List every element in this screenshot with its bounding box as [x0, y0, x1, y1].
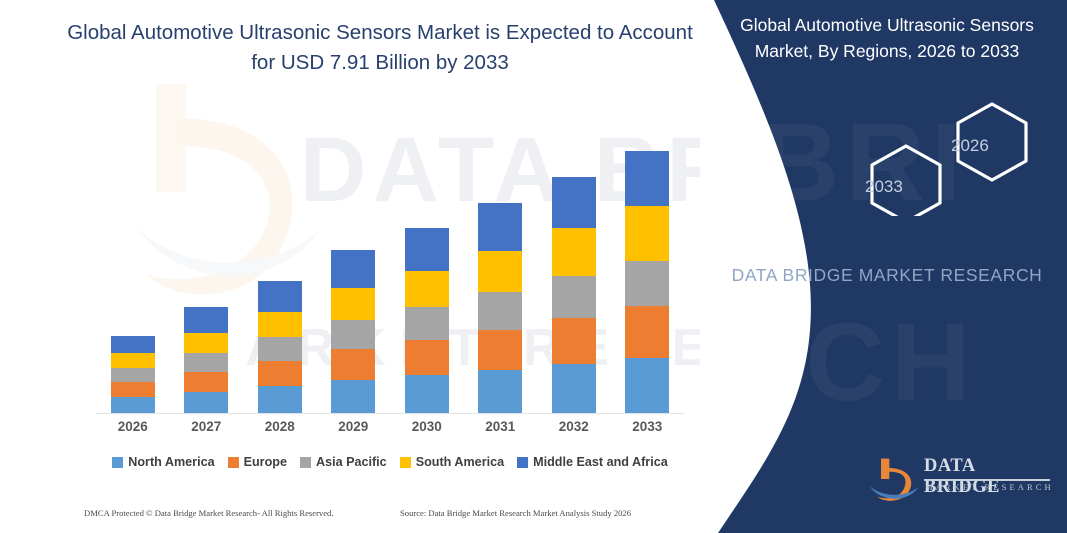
bar-segment	[405, 271, 449, 307]
bar-segment	[184, 353, 228, 372]
dbmr-logo-subtitle: MARKET RESEARCH	[925, 482, 1054, 492]
x-axis-tick-2033: 2033	[607, 419, 687, 434]
x-axis-tick-2026: 2026	[93, 419, 173, 434]
bar-segment	[552, 364, 596, 413]
legend-item-north-america[interactable]: North America	[112, 455, 214, 469]
bar-segment	[184, 333, 228, 353]
bar-segment	[184, 372, 228, 392]
bar-segment	[552, 177, 596, 228]
legend-swatch-icon	[112, 457, 123, 468]
bar-segment	[111, 353, 155, 368]
bar-segment	[478, 251, 522, 292]
bar-segment	[258, 386, 302, 413]
footer-source: Source: Data Bridge Market Research Mark…	[400, 508, 631, 518]
bar-segment	[111, 368, 155, 382]
bar-segment	[552, 276, 596, 318]
chart-legend: North AmericaEuropeAsia PacificSouth Ame…	[96, 455, 684, 469]
legend-item-south-america[interactable]: South America	[400, 455, 504, 469]
x-axis-tick-2030: 2030	[387, 419, 467, 434]
bar-segment	[331, 288, 375, 319]
bar-column	[111, 336, 155, 413]
bar-column	[258, 281, 302, 413]
page-title: Global Automotive Ultrasonic Sensors Mar…	[60, 18, 700, 78]
bar-segment	[184, 307, 228, 333]
legend-label: Middle East and Africa	[533, 455, 668, 469]
footer-copyright: DMCA Protected © Data Bridge Market Rese…	[84, 508, 334, 518]
chart-area: DATA BRIDGE MARKET RESEARCH Global Autom…	[0, 0, 710, 533]
hexagon-shapes-icon	[820, 96, 1060, 216]
bar-segment	[405, 375, 449, 413]
legend-swatch-icon	[400, 457, 411, 468]
panel-title: Global Automotive Ultrasonic Sensors Mar…	[722, 12, 1052, 64]
hexagon-label-2026: 2026	[951, 136, 989, 156]
bar-segment	[331, 250, 375, 288]
dbmr-logo: DATA BRIDGE MARKET RESEARCH	[868, 452, 1054, 508]
bar-segment	[478, 370, 522, 413]
bar-column	[625, 151, 669, 413]
legend-item-asia-pacific[interactable]: Asia Pacific	[300, 455, 387, 469]
bar-segment	[405, 228, 449, 271]
legend-swatch-icon	[228, 457, 239, 468]
svg-text:RCH: RCH	[720, 301, 976, 424]
bar-segment	[405, 340, 449, 375]
bar-segment	[258, 312, 302, 337]
bar-segment	[478, 330, 522, 370]
bar-segment	[258, 361, 302, 386]
bar-column	[331, 250, 375, 413]
legend-label: North America	[128, 455, 214, 469]
brand-wordmark: DATA BRIDGE MARKET RESEARCH	[722, 262, 1052, 288]
x-axis-tick-2027: 2027	[166, 419, 246, 434]
bar-column	[405, 228, 449, 413]
bar-column	[478, 203, 522, 413]
x-axis-tick-2031: 2031	[460, 419, 540, 434]
bar-segment	[331, 320, 375, 349]
x-axis-tick-2029: 2029	[313, 419, 393, 434]
bar-segment	[478, 292, 522, 330]
legend-swatch-icon	[300, 457, 311, 468]
bar-segment	[111, 397, 155, 413]
right-brand-panel: BRI RCH Global Automotive Ultrasonic Sen…	[700, 0, 1067, 533]
bar-segment	[625, 151, 669, 206]
bar-segment	[552, 228, 596, 276]
legend-item-europe[interactable]: Europe	[228, 455, 287, 469]
dbmr-logo-icon	[868, 454, 920, 504]
hexagon-label-2033: 2033	[865, 177, 903, 197]
bar-segment	[625, 261, 669, 306]
bar-column	[552, 177, 596, 413]
bar-segment	[552, 318, 596, 364]
bar-segment	[405, 307, 449, 340]
dbmr-logo-rule	[924, 479, 1050, 481]
bar-segment	[625, 358, 669, 413]
legend-swatch-icon	[517, 457, 528, 468]
hexagon-group: 2026 2033	[820, 96, 1060, 216]
bar-segment	[331, 380, 375, 413]
bar-segment	[258, 281, 302, 312]
legend-label: Asia Pacific	[316, 455, 387, 469]
watermark-logo-icon	[128, 78, 328, 308]
bar-segment	[625, 206, 669, 261]
x-axis-line	[96, 413, 684, 414]
bar-segment	[111, 336, 155, 354]
bar-segment	[184, 392, 228, 413]
infographic-canvas: DATA BRIDGE MARKET RESEARCH Global Autom…	[0, 0, 1067, 533]
legend-item-middle-east-and-africa[interactable]: Middle East and Africa	[517, 455, 668, 469]
x-axis-tick-2032: 2032	[534, 419, 614, 434]
bar-segment	[478, 203, 522, 251]
bar-column	[184, 307, 228, 413]
bar-segment	[111, 382, 155, 397]
bar-segment	[331, 349, 375, 380]
bar-segment	[258, 337, 302, 361]
x-axis-tick-2028: 2028	[240, 419, 320, 434]
bar-segment	[625, 306, 669, 358]
legend-label: South America	[416, 455, 504, 469]
legend-label: Europe	[244, 455, 287, 469]
